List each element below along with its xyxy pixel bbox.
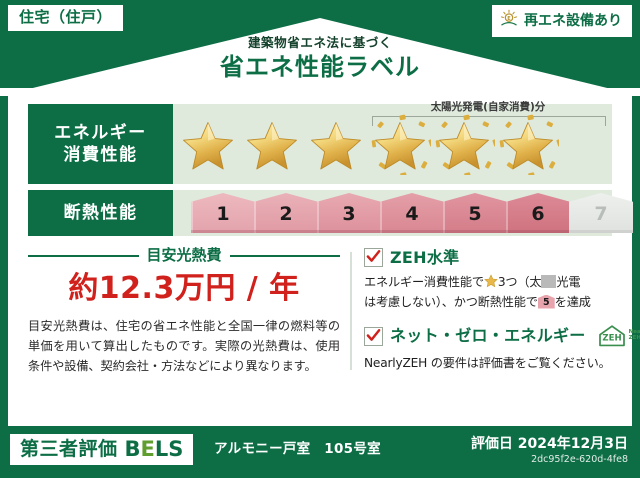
star-6 [497, 113, 559, 175]
zeh-body-line2-post: を達成 [555, 295, 591, 309]
star-rating [177, 104, 612, 184]
star-4 [369, 113, 431, 175]
label-footer: 第三者評価 BELS アルモニー戸室 105号室 評価日 2024年12月3日 … [0, 426, 640, 478]
zeh-body-mid: 3つ（太 [498, 275, 542, 289]
net-zero-energy-block: ネット・ゼロ・エネルギー ZEH Nearly ZEH [364, 324, 640, 374]
insulation-level-badge-icon: 5 [538, 295, 555, 309]
zeh-column: ZEH水準 エネルギー消費性能で3つ（太光電は考慮しない）、かつ断熱性能で5を達… [364, 248, 640, 386]
star-5 [433, 113, 495, 175]
insulation-performance-row: 断熱性能 1234567 [28, 190, 612, 236]
zeh-body-line2-pre: は考慮しない）、かつ断熱性能で [364, 295, 538, 309]
insulation-level-3: 3 [317, 193, 381, 233]
energy-performance-label: 住宅（住戸） E 再エネ設備あり 建築物 [0, 0, 640, 478]
insulation-level-2: 2 [254, 193, 318, 233]
insulation-level-number: 4 [405, 205, 418, 233]
title-subtitle: 建築物省エネ法に基づく [0, 36, 640, 50]
star-icon [182, 121, 234, 171]
net-zero-heading-row: ネット・ゼロ・エネルギー ZEH Nearly ZEH [364, 324, 640, 348]
performance-section: エネルギー 消費性能 太陽光発電(自家消費)分 断熱性能 1234567 [28, 104, 612, 236]
insulation-level-number: 3 [342, 205, 355, 233]
building-type-tag: 住宅（住戸） [8, 5, 123, 31]
energy-label-line1: エネルギー [54, 122, 147, 144]
evaluation-id: 2dc95f2e-620d-4fe8 [471, 455, 628, 465]
svg-text:E: E [507, 16, 511, 22]
bels-en-text: BELS [125, 439, 184, 460]
insulation-level-number: 6 [531, 205, 544, 233]
star-icon [438, 121, 490, 171]
star-2 [241, 113, 303, 175]
building-name: アルモニー戸室 105号室 [214, 443, 381, 457]
zeh-standard-block: ZEH水準 エネルギー消費性能で3つ（太光電は考慮しない）、かつ断熱性能で5を達… [364, 248, 640, 312]
column-divider [350, 252, 352, 370]
insulation-level-number: 2 [279, 205, 292, 233]
insulation-level-1: 1 [191, 193, 255, 233]
zeh-standard-title: ZEH水準 [390, 250, 459, 266]
cost-value: 約12.3万円 / 年 [28, 272, 340, 305]
insulation-label: 断熱性能 [64, 202, 138, 224]
insulation-grade-scale: 1234567 [191, 193, 632, 233]
star-icon [246, 121, 298, 171]
zeh-logo-sub2: ZEH [629, 336, 640, 342]
star-icon [502, 121, 554, 171]
net-zero-title: ネット・ゼロ・エネルギー [390, 328, 586, 344]
bels-logo: 第三者評価 BELS [10, 434, 193, 465]
energy-rating-area: 太陽光発電(自家消費)分 [173, 104, 612, 184]
energy-performance-row: エネルギー 消費性能 太陽光発電(自家消費)分 [28, 104, 612, 184]
energy-performance-label-box: エネルギー 消費性能 [28, 104, 173, 184]
details-columns: 目安光熱費 約12.3万円 / 年 目安光熱費は、住宅の省エネ性能と全国一律の燃… [28, 248, 612, 408]
insulation-level-6: 6 [506, 193, 570, 233]
solar-sun-icon: E [499, 9, 519, 33]
cost-heading: 目安光熱費 [147, 248, 222, 263]
insulation-level-5: 5 [443, 193, 507, 233]
title-main: 省エネ性能ラベル [0, 52, 640, 82]
label-body-card: エネルギー 消費性能 太陽光発電(自家消費)分 断熱性能 1234567 [8, 90, 632, 426]
insulation-level-number: 1 [216, 205, 229, 233]
insulation-level-number: 5 [468, 205, 481, 233]
bels-jp-text: 第三者評価 [20, 440, 118, 459]
star-icon [310, 121, 362, 171]
svg-text:ZEH: ZEH [602, 333, 621, 343]
insulation-scale-area: 1234567 [173, 190, 612, 236]
net-zero-body: NearlyZEH の要件は評価書をご覧ください。 [364, 354, 640, 374]
evaluation-info: 評価日 2024年12月3日 2dc95f2e-620d-4fe8 [471, 437, 628, 465]
evaluation-date: 評価日 2024年12月3日 [471, 437, 628, 451]
zeh-standard-heading-row: ZEH水準 [364, 248, 640, 267]
star-3 [305, 113, 367, 175]
star-icon [374, 121, 426, 171]
star-1 [177, 113, 239, 175]
cost-note: 目安光熱費は、住宅の省エネ性能と全国一律の燃料等の単価を用いて算出したものです。… [28, 317, 340, 376]
checkmark-icon [364, 248, 383, 267]
title-block: 建築物省エネ法に基づく 省エネ性能ラベル [0, 36, 640, 82]
zeh-logo-subtext: Nearly ZEH [629, 330, 640, 342]
zeh-logo-icon: ZEH Nearly ZEH [597, 324, 640, 348]
zeh-body-pre: エネルギー消費性能で [364, 275, 484, 289]
insulation-level-number: 7 [594, 205, 607, 233]
redacted-text-block [541, 275, 556, 288]
renewable-equipment-badge: E 再エネ設備あり [492, 5, 632, 37]
utility-cost-column: 目安光熱費 約12.3万円 / 年 目安光熱費は、住宅の省エネ性能と全国一律の燃… [28, 248, 340, 376]
renewable-badge-label: 再エネ設備あり [524, 14, 622, 28]
cost-heading-row: 目安光熱費 [28, 248, 340, 263]
zeh-body-post: 光電 [556, 275, 580, 289]
insulation-badge-level: 5 [538, 295, 555, 309]
checkmark-icon [364, 327, 383, 346]
label-header: 住宅（住戸） E 再エネ設備あり 建築物 [0, 0, 640, 96]
insulation-level-4: 4 [380, 193, 444, 233]
insulation-level-7: 7 [569, 193, 633, 233]
inline-star-icon [484, 274, 498, 288]
zeh-standard-body: エネルギー消費性能で3つ（太光電は考慮しない）、かつ断熱性能で5を達成 [364, 273, 640, 312]
cost-rule-left [28, 255, 139, 257]
insulation-label-box: 断熱性能 [28, 190, 173, 236]
energy-label-line2: 消費性能 [64, 144, 138, 166]
cost-rule-right [230, 255, 341, 257]
